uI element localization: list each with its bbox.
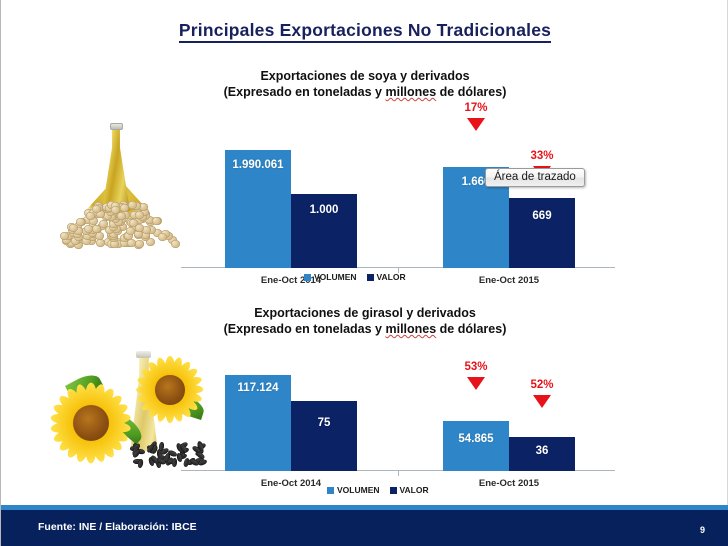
soybeans-pile [50, 197, 178, 247]
chart-title-soya-line2-c: de dólares) [436, 85, 506, 99]
chart-title-girasol-line2: (Expresado en toneladas y millones de dó… [1, 321, 728, 337]
category-label-soya-2015: Ene-Oct 2015 [443, 275, 575, 286]
bottle-cap-shape [110, 123, 123, 130]
plot-area-girasol[interactable]: 117.124 75 54.865 36 53% 52% Ene-Oct 201… [181, 355, 615, 471]
legend-swatch-volumen-icon [327, 487, 334, 494]
soybean-shape [99, 220, 108, 228]
annotation-arrow-down-girasol-volumen [467, 377, 485, 390]
legend-label-girasol-valor: VALOR [400, 485, 429, 495]
chart-title-girasol-line2-a: (Expresado en toneladas y [224, 322, 386, 336]
legend-girasol: VOLUMEN VALOR [327, 485, 429, 495]
annotation-arrow-down-girasol-valor [533, 395, 551, 408]
annotation-pct-soya-volumen: 17% [443, 102, 509, 114]
chart-title-girasol-line1: Exportaciones de girasol y derivados [1, 305, 728, 321]
bar-girasol-2015-valor[interactable]: 36 [509, 437, 575, 471]
bar-soya-2014-volumen[interactable]: 1.990.061 [225, 150, 291, 268]
legend-item-girasol-volumen[interactable]: VOLUMEN [327, 485, 380, 495]
bar-girasol-2015-volumen[interactable]: 54.865 [443, 421, 509, 471]
legend-swatch-valor-icon [390, 487, 397, 494]
chart-title-girasol-misspelled-word: millones [385, 322, 436, 336]
legend-item-girasol-valor[interactable]: VALOR [390, 485, 429, 495]
axis-tick-girasol [398, 471, 399, 476]
chart-title-girasol: Exportaciones de girasol y derivados (Ex… [1, 305, 728, 337]
sunflower-seed-shape [172, 458, 178, 467]
page-title-text: Principales Exportaciones No Tradicional… [179, 20, 551, 43]
chart-block-soya: Exportaciones de soya y derivados (Expre… [1, 68, 728, 293]
annotation-arrow-down-soya-volumen [467, 118, 485, 131]
bar-label-girasol-2014-valor: 75 [291, 417, 357, 429]
bar-girasol-2014-valor[interactable]: 75 [291, 401, 357, 471]
category-label-girasol-2015: Ene-Oct 2015 [443, 478, 575, 489]
chart-title-soya-misspelled-word: millones [385, 85, 436, 99]
soybean-shape [135, 240, 144, 248]
legend-label-girasol-volumen: VOLUMEN [337, 485, 380, 495]
sunflower-front [49, 381, 133, 465]
bar-soya-2015-valor[interactable]: 669 [509, 198, 575, 268]
chart-title-soya-line1: Exportaciones de soya y derivados [1, 68, 728, 84]
legend-item-soya-volumen[interactable]: VOLUMEN [304, 272, 357, 282]
bar-soya-2014-valor[interactable]: 1.000 [291, 194, 357, 268]
annotation-pct-girasol-volumen: 53% [443, 361, 509, 373]
legend-swatch-volumen-icon [304, 274, 311, 281]
soybean-shape [69, 224, 78, 232]
bar-label-soya-2014-valor: 1.000 [291, 204, 357, 216]
plot-area-soya[interactable]: 1.990.061 1.000 1.660 669 17% 33% Ene-Oc… [181, 118, 615, 268]
soybean-shape [129, 219, 138, 227]
chart-title-soya-line2: (Expresado en toneladas y millones de dó… [1, 84, 728, 100]
soybean-oil-image [44, 123, 184, 253]
plot-area-tooltip: Área de trazado [485, 168, 585, 187]
soybean-shape [171, 240, 180, 248]
slide: Principales Exportaciones No Tradicional… [0, 0, 728, 546]
sunflower-seed-shape [137, 458, 144, 468]
footer-source-text: Fuente: INE / Elaboración: IBCE [38, 521, 197, 533]
page-title: Principales Exportaciones No Tradicional… [1, 20, 728, 41]
bar-label-girasol-2015-valor: 36 [509, 445, 575, 457]
chart-block-girasol: Exportaciones de girasol y derivados (Ex… [1, 305, 728, 510]
soybean-shape [92, 205, 101, 213]
page-number: 9 [700, 525, 705, 535]
bar-label-soya-2014-volumen: 1.990.061 [225, 159, 291, 171]
bar-label-girasol-2014-volumen: 117.124 [225, 382, 291, 394]
soybean-shape [135, 211, 144, 219]
soybean-shape [76, 218, 85, 226]
soybean-shape [111, 206, 120, 214]
legend-soya: VOLUMEN VALOR [304, 272, 406, 282]
chart-title-soya: Exportaciones de soya y derivados (Expre… [1, 68, 728, 100]
soybean-shape [126, 227, 135, 235]
legend-item-soya-valor[interactable]: VALOR [367, 272, 406, 282]
footer-bar: Fuente: INE / Elaboración: IBCE 9 [1, 510, 728, 546]
bar-girasol-2014-volumen[interactable]: 117.124 [225, 375, 291, 471]
chart-title-soya-line2-a: (Expresado en toneladas y [224, 85, 386, 99]
legend-swatch-valor-icon [367, 274, 374, 281]
chart-title-girasol-line2-c: de dólares) [436, 322, 506, 336]
annotation-pct-girasol-valor: 52% [509, 379, 575, 391]
legend-label-soya-volumen: VOLUMEN [314, 272, 357, 282]
annotation-pct-soya-valor: 33% [509, 150, 575, 162]
plot-area-tooltip-text: Área de trazado [494, 171, 576, 183]
soybean-shape [96, 239, 105, 247]
soybean-shape [60, 232, 69, 240]
bar-label-soya-2015-valor: 669 [509, 210, 575, 222]
soybean-shape [86, 212, 95, 220]
legend-label-soya-valor: VALOR [377, 272, 406, 282]
soybean-shape [158, 233, 167, 241]
bar-label-girasol-2015-volumen: 54.865 [443, 433, 509, 445]
